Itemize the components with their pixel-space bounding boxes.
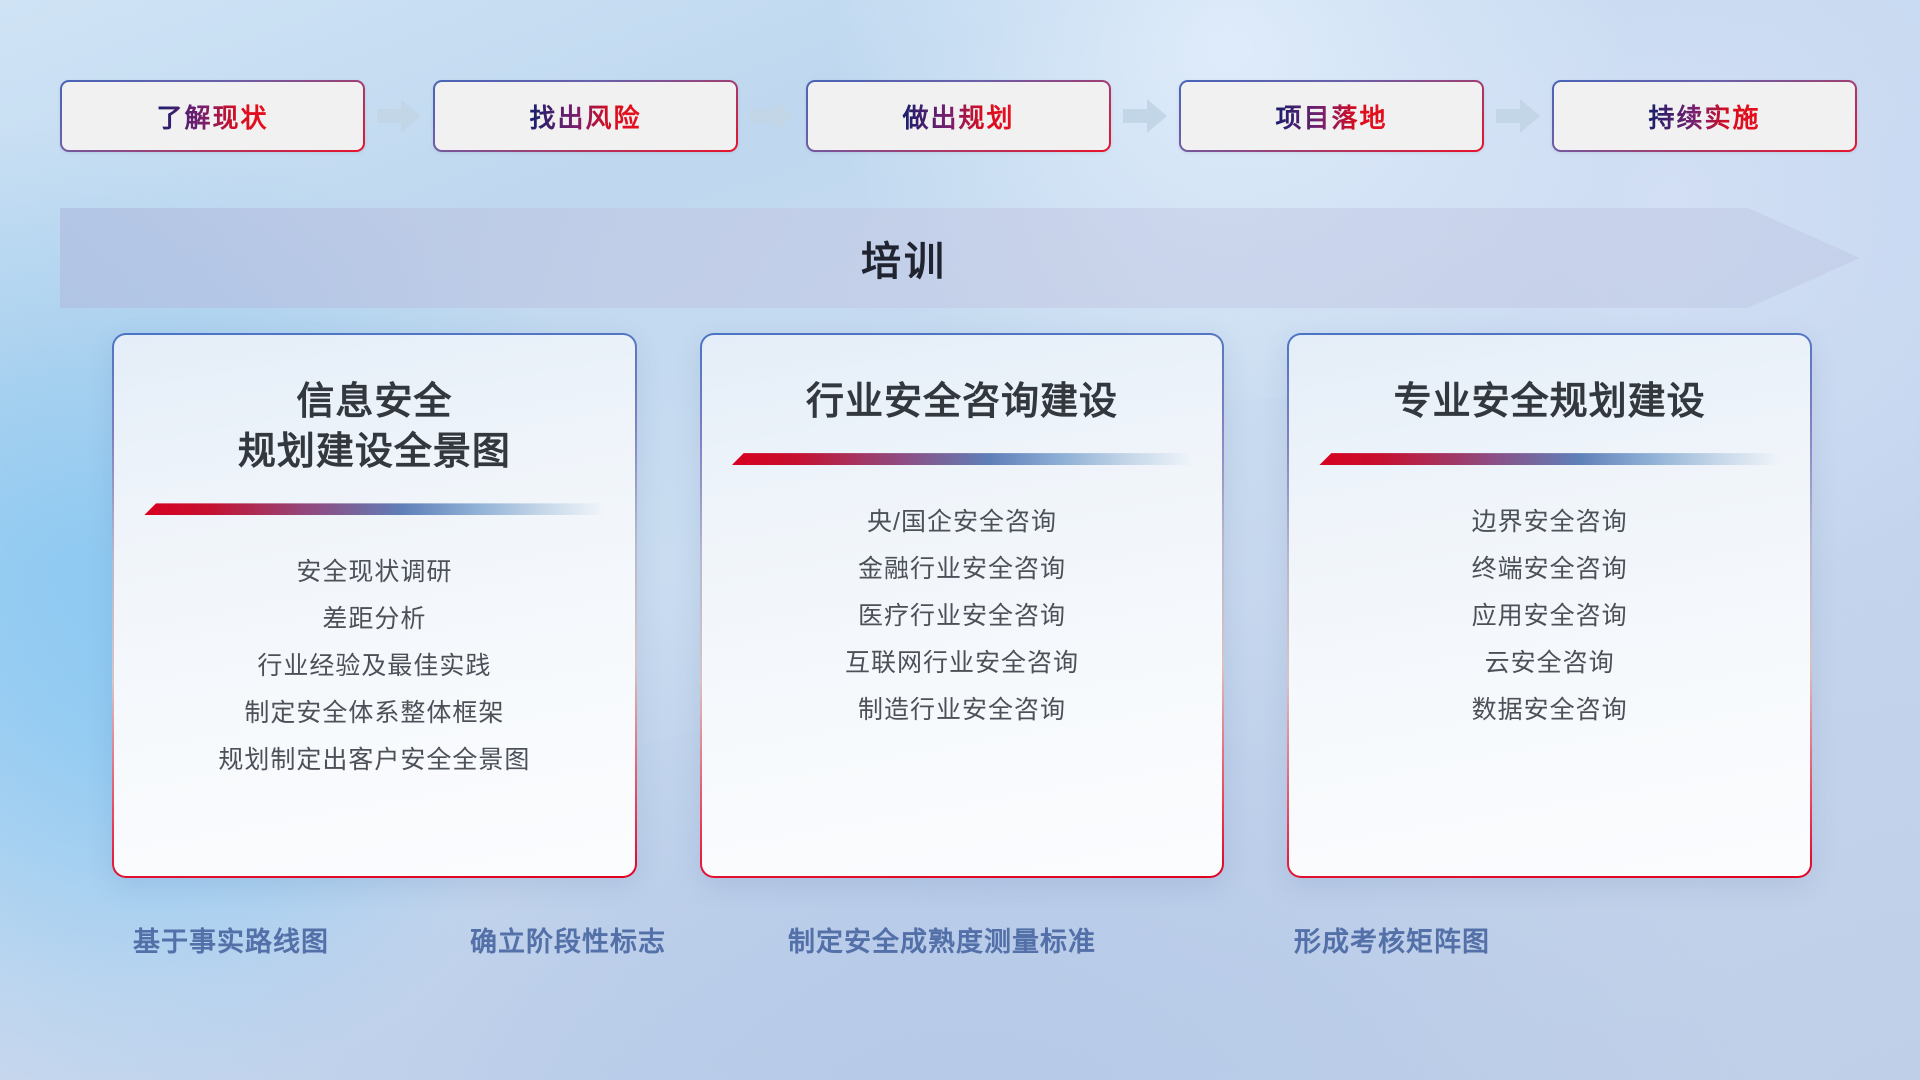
list-item: 云安全咨询 <box>1319 640 1780 687</box>
step-item-3[interactable]: 做出规划 <box>806 80 1111 152</box>
arrow-right-icon <box>738 80 806 152</box>
list-item: 金融行业安全咨询 <box>732 546 1193 593</box>
card-title: 信息安全 规划建设全景图 <box>144 377 605 477</box>
slide-canvas: 了解现状 找出风险 做出规划 项目落地 <box>0 0 1920 1080</box>
process-step-row: 了解现状 找出风险 做出规划 项目落地 <box>60 80 1860 152</box>
arrow-right-icon <box>1484 80 1552 152</box>
step-item-5[interactable]: 持续实施 <box>1552 80 1857 152</box>
list-item: 医疗行业安全咨询 <box>732 593 1193 640</box>
list-item: 终端安全咨询 <box>1319 546 1780 593</box>
step-item-2[interactable]: 找出风险 <box>433 80 738 152</box>
step-label: 找出风险 <box>529 98 641 135</box>
step-label: 了解现状 <box>156 98 268 135</box>
footer-label-row: 基于事实路线图 确立阶段性标志 制定安全成熟度测量标准 形成考核矩阵图 <box>0 920 1920 970</box>
step-label: 做出规划 <box>902 98 1014 135</box>
card-accent-rule <box>1319 453 1780 465</box>
step-item-1[interactable]: 了解现状 <box>60 80 365 152</box>
card-item-list: 边界安全咨询 终端安全咨询 应用安全咨询 云安全咨询 数据安全咨询 <box>1319 499 1780 734</box>
card-accent-rule <box>144 503 605 515</box>
card-information-security-blueprint[interactable]: 信息安全 规划建设全景图 安全现状调研 差距分析 行业经验及最佳实践 制定安全体… <box>112 333 637 878</box>
footer-label-roadmap: 基于事实路线图 <box>133 920 329 959</box>
list-item: 行业经验及最佳实践 <box>144 643 605 690</box>
list-item: 安全现状调研 <box>144 549 605 596</box>
card-row: 信息安全 规划建设全景图 安全现状调研 差距分析 行业经验及最佳实践 制定安全体… <box>112 333 1812 878</box>
banner-title: 培训 <box>60 208 1860 308</box>
list-item: 制定安全体系整体框架 <box>144 690 605 737</box>
list-item: 边界安全咨询 <box>1319 499 1780 546</box>
list-item: 央/国企安全咨询 <box>732 499 1193 546</box>
list-item: 应用安全咨询 <box>1319 593 1780 640</box>
list-item: 互联网行业安全咨询 <box>732 640 1193 687</box>
list-item: 差距分析 <box>144 596 605 643</box>
arrow-right-icon <box>365 80 433 152</box>
card-title: 专业安全规划建设 <box>1319 377 1780 427</box>
list-item: 规划制定出客户安全全景图 <box>144 737 605 784</box>
footer-label-maturity: 制定安全成熟度测量标准 <box>788 920 1096 959</box>
footer-label-matrix: 形成考核矩阵图 <box>1294 920 1490 959</box>
card-professional-security-planning[interactable]: 专业安全规划建设 边界安全咨询 终端安全咨询 应用安全咨询 云安全咨询 数据安全… <box>1287 333 1812 878</box>
card-item-list: 央/国企安全咨询 金融行业安全咨询 医疗行业安全咨询 互联网行业安全咨询 制造行… <box>732 499 1193 734</box>
list-item: 制造行业安全咨询 <box>732 687 1193 734</box>
training-banner: 培训 <box>60 208 1860 308</box>
arrow-right-icon <box>1111 80 1179 152</box>
card-title: 行业安全咨询建设 <box>732 377 1193 427</box>
step-label: 项目落地 <box>1275 98 1387 135</box>
card-industry-security-consulting[interactable]: 行业安全咨询建设 央/国企安全咨询 金融行业安全咨询 医疗行业安全咨询 互联网行… <box>700 333 1225 878</box>
list-item: 数据安全咨询 <box>1319 687 1780 734</box>
card-accent-rule <box>732 453 1193 465</box>
step-label: 持续实施 <box>1648 98 1760 135</box>
footer-label-milestone: 确立阶段性标志 <box>470 920 666 959</box>
step-item-4[interactable]: 项目落地 <box>1179 80 1484 152</box>
card-item-list: 安全现状调研 差距分析 行业经验及最佳实践 制定安全体系整体框架 规划制定出客户… <box>144 549 605 784</box>
